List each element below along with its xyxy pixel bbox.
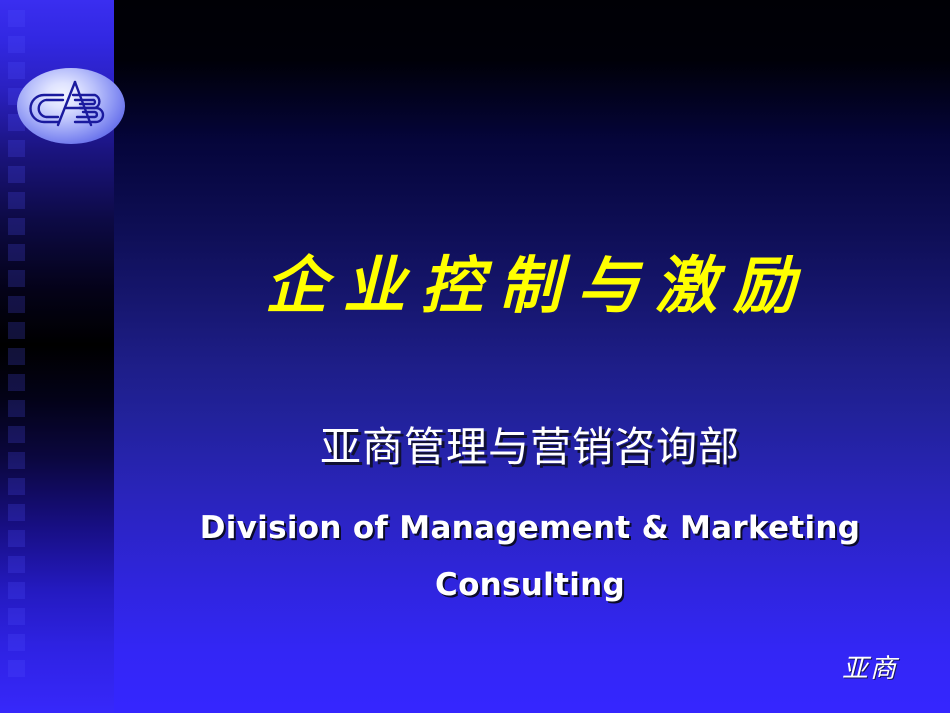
slide-subtitle-english: Division of Management & Marketing Consu…	[130, 500, 930, 615]
presentation-slide: 企业控制与激励 亚商管理与营销咨询部 Division of Managemen…	[0, 0, 950, 713]
film-strip-square	[8, 10, 25, 27]
film-strip-square	[8, 192, 25, 209]
film-strip-square	[8, 244, 25, 261]
film-strip-square	[8, 608, 25, 625]
film-strip-square	[8, 530, 25, 547]
subtitle-english-line-2: Consulting	[130, 557, 930, 614]
film-strip-square	[8, 270, 25, 287]
cab-monogram-icon	[17, 68, 125, 144]
film-strip-square	[8, 296, 25, 313]
film-strip-square	[8, 556, 25, 573]
subtitle-english-line-1: Division of Management & Marketing	[130, 500, 930, 557]
film-strip-square	[8, 660, 25, 677]
film-strip-square	[8, 374, 25, 391]
footer-brand-mark: 亚商	[842, 648, 898, 685]
film-strip-square	[8, 582, 25, 599]
film-strip-square	[8, 348, 25, 365]
film-strip-square	[8, 452, 25, 469]
film-strip-square	[8, 322, 25, 339]
film-strip-square	[8, 634, 25, 651]
film-strip-square	[8, 478, 25, 495]
film-strip-square	[8, 218, 25, 235]
slide-title: 企业控制与激励	[130, 252, 930, 320]
film-strip-square	[8, 400, 25, 417]
slide-subtitle-chinese: 亚商管理与营销咨询部	[130, 424, 930, 471]
film-strip-square	[8, 426, 25, 443]
film-strip-square	[8, 36, 25, 53]
film-strip-square	[8, 504, 25, 521]
film-strip-square	[8, 166, 25, 183]
cab-logo	[17, 68, 125, 144]
